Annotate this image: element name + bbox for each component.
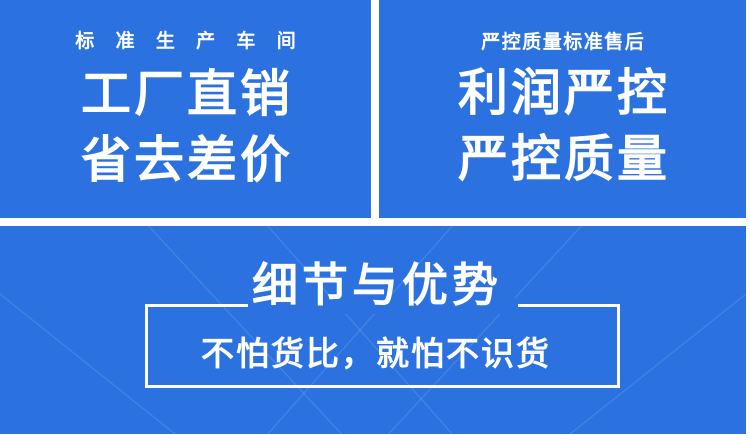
banner-canvas: 标 准 生 产 车 间 工厂直销 省去差价 严控质量标准售后 利润严控 严控质量…: [0, 0, 750, 440]
bottom-panel-subtitle: 不怕货比，就怕不识货: [0, 337, 750, 370]
bottom-panel-title: 细节与优势: [0, 262, 750, 308]
bottom-panel-overlay: 细节与优势 不怕货比，就怕不识货: [0, 0, 750, 440]
